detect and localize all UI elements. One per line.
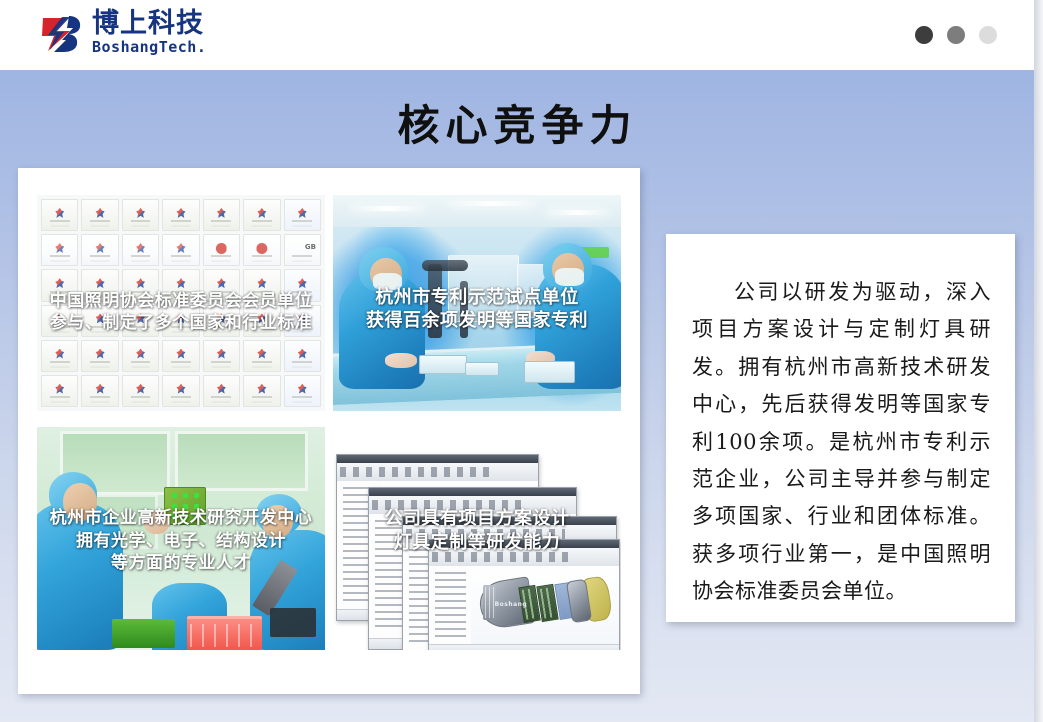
page-edge	[1034, 0, 1043, 722]
dot-light[interactable]	[979, 26, 997, 44]
tile-certificates[interactable]: 中国照明协会标准委员会会员单位 参与、制定了多个国家和行业标准	[37, 195, 325, 411]
dot-mid[interactable]	[947, 26, 965, 44]
tile-certificates-caption: 中国照明协会标准委员会会员单位 参与、制定了多个国家和行业标准	[37, 290, 325, 335]
description-text: 公司以研发为驱动，深入项目方案设计与定制灯具研发。拥有杭州市高新技术研发中心，先…	[692, 274, 991, 610]
caption-line: 公司具有项目方案设计	[333, 507, 621, 531]
gallery-grid: 中国照明协会标准委员会会员单位 参与、制定了多个国家和行业标准	[37, 195, 621, 650]
cad-window-front: Boshang	[428, 539, 620, 651]
tile-cad[interactable]: Boshang 公司具有项目方案设计 灯具定制等研发能力	[333, 427, 621, 650]
tile-lab[interactable]: 杭州市企业高新技术研究开发中心 拥有光学、电子、结构设计 等方面的专业人才	[37, 427, 325, 650]
brand-logo-text: 博上科技 BoshangTech.	[92, 10, 206, 55]
page-title: 核心竞争力	[0, 92, 1035, 153]
caption-line: 灯具定制等研发能力	[333, 531, 621, 555]
cad-model-brand-label: Boshang	[495, 601, 528, 608]
brand-name-en: BoshangTech.	[92, 40, 206, 55]
description-panel: 公司以研发为驱动，深入项目方案设计与定制灯具研发。拥有杭州市高新技术研发中心，先…	[666, 234, 1015, 622]
tile-lab-caption: 杭州市企业高新技术研究开发中心 拥有光学、电子、结构设计 等方面的专业人才	[37, 507, 325, 574]
gallery-card: 中国照明协会标准委员会会员单位 参与、制定了多个国家和行业标准	[18, 168, 640, 694]
caption-line: 等方面的专业人才	[37, 552, 325, 574]
tile-cad-caption: 公司具有项目方案设计 灯具定制等研发能力	[333, 507, 621, 555]
caption-line: 杭州市专利示范试点单位	[333, 286, 621, 310]
caption-line: 拥有光学、电子、结构设计	[37, 530, 325, 552]
caption-line: 中国照明协会标准委员会会员单位	[37, 290, 325, 312]
brand-name-cn: 博上科技	[92, 10, 206, 38]
caption-line: 获得百余项发明等国家专利	[333, 309, 621, 333]
boshang-b-mark-icon	[40, 11, 84, 55]
tile-cleanroom-caption: 杭州市专利示范试点单位 获得百余项发明等国家专利	[333, 286, 621, 334]
dot-active[interactable]	[915, 26, 933, 44]
brand-logo[interactable]: 博上科技 BoshangTech.	[40, 10, 206, 55]
tile-cleanroom[interactable]: 杭州市专利示范试点单位 获得百余项发明等国家专利	[333, 195, 621, 411]
page-header: 博上科技 BoshangTech.	[0, 0, 1035, 70]
slide-root: 博上科技 BoshangTech. 核心竞争力	[0, 0, 1043, 722]
caption-line: 杭州市企业高新技术研究开发中心	[37, 507, 325, 529]
slide-indicator-dots[interactable]	[915, 26, 997, 44]
caption-line: 参与、制定了多个国家和行业标准	[37, 312, 325, 334]
